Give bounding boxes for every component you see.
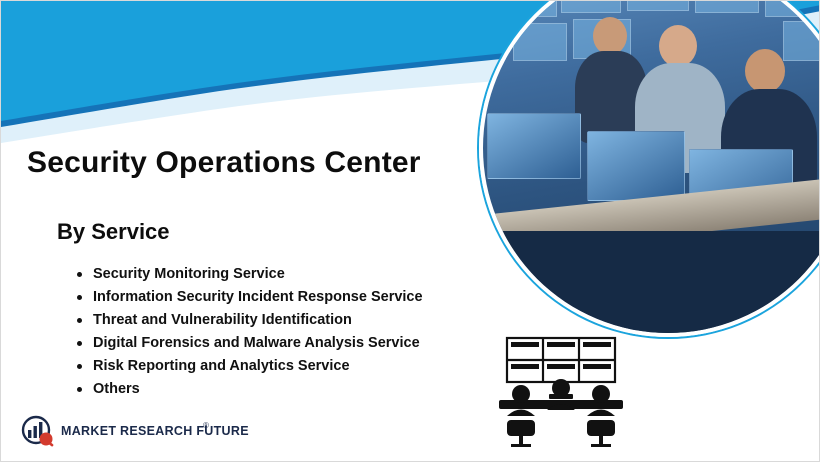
service-list: Security Monitoring Service Information … <box>59 263 423 401</box>
list-item: Others <box>77 378 423 401</box>
operations-room-icon <box>489 336 634 448</box>
market-research-future-logo-icon <box>17 415 57 447</box>
hero-photo-image <box>483 0 820 333</box>
slide-canvas: Security Operations Center By Service Se… <box>0 0 820 462</box>
page-title: Security Operations Center <box>27 146 421 180</box>
logo-registered-mark: ® <box>203 421 209 430</box>
list-item: Information Security Incident Response S… <box>77 286 423 309</box>
hero-photo <box>479 0 820 337</box>
section-subtitle: By Service <box>57 219 170 245</box>
list-item: Security Monitoring Service <box>77 263 423 286</box>
logo: MARKET RESEARCH FUTURE ® <box>17 415 212 449</box>
list-item: Risk Reporting and Analytics Service <box>77 355 423 378</box>
logo-text: MARKET RESEARCH FUTURE <box>61 424 249 438</box>
list-item: Digital Forensics and Malware Analysis S… <box>77 332 423 355</box>
list-item: Threat and Vulnerability Identification <box>77 309 423 332</box>
